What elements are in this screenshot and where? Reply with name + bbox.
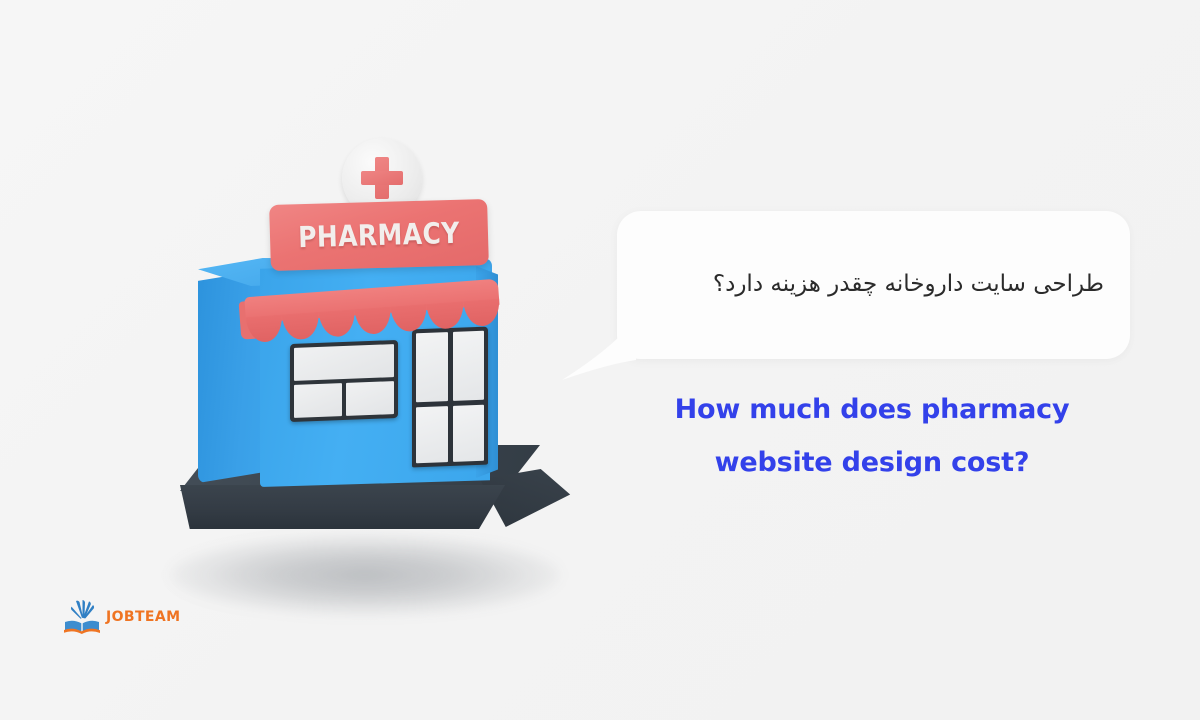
logo-brand-text: JOBTEAM — [106, 609, 180, 625]
headline-line-2: website design cost? — [612, 437, 1132, 490]
door-pane-row-lower — [416, 405, 484, 463]
pharmacy-sign-label: PHARMACY — [298, 216, 460, 254]
window-pane — [346, 381, 394, 416]
open-book-logo-icon — [62, 598, 102, 636]
awning-scallop — [390, 304, 428, 333]
door-pane — [416, 332, 448, 403]
medical-cross-icon — [361, 157, 403, 199]
pharmacy-illustration: PHARMACY — [150, 120, 570, 620]
storefront-window — [290, 340, 398, 422]
question-text-farsi: طراحی سایت داروخانه چقدر هزینه دارد؟ — [713, 265, 1104, 304]
window-pane — [294, 383, 342, 418]
window-pane-row-bottom — [294, 381, 394, 418]
awning-scallop — [463, 299, 501, 328]
door-pane — [453, 405, 485, 462]
page-headline: How much does pharmacy website design co… — [612, 384, 1132, 489]
page-canvas: PHARMACY طراحی سایت داروخانه چقدر هزینه … — [0, 0, 1200, 720]
headline-line-1: How much does pharmacy — [612, 384, 1132, 437]
door-pane — [416, 407, 448, 464]
awning-scallop — [318, 309, 356, 338]
door-pane — [453, 331, 485, 402]
window-pane — [294, 344, 394, 381]
speech-bubble-tail — [560, 330, 640, 382]
window-pane-row-top — [294, 344, 394, 381]
awning-scallop — [246, 315, 284, 344]
plinth-front-face — [180, 485, 505, 529]
awning-scallop — [282, 312, 320, 341]
pharmacy-sign-board: PHARMACY — [269, 199, 489, 271]
awning-scallop — [427, 301, 465, 330]
illustration-drop-shadow — [170, 535, 560, 615]
question-speech-bubble: طراحی سایت داروخانه چقدر هزینه دارد؟ — [617, 211, 1130, 359]
awning-scallop — [354, 307, 392, 336]
storefront-door — [412, 327, 488, 468]
door-pane-row-upper — [416, 331, 484, 403]
jobteam-logo[interactable]: JOBTEAM — [62, 596, 172, 638]
